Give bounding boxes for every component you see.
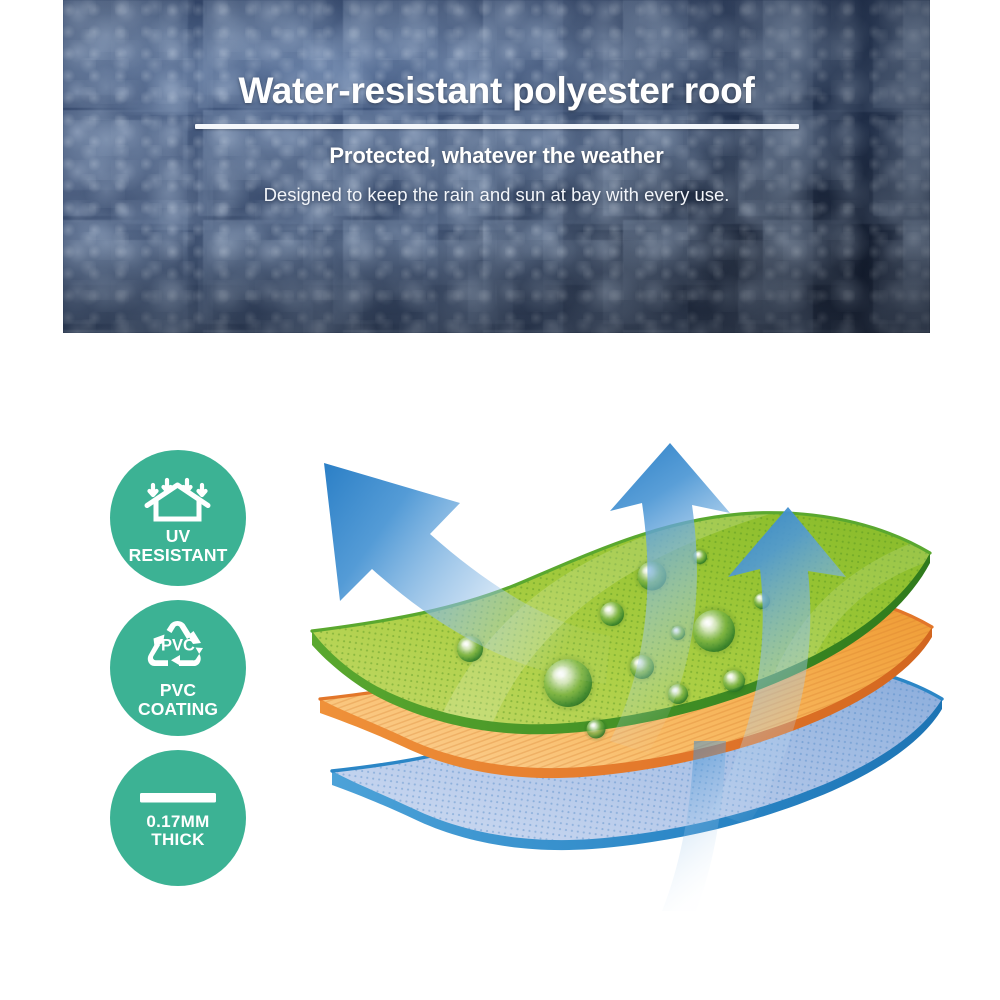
water-droplet <box>596 598 628 630</box>
hero-text-block: Water-resistant polyester roof Protected… <box>63 0 930 333</box>
pvc-recycle-icon: PVC <box>144 618 212 676</box>
hero-description: Designed to keep the rain and sun at bay… <box>264 183 730 208</box>
badge-pvc-coating[interactable]: PVC PVC COATING <box>110 600 246 736</box>
pvc-icon-text: PVC <box>161 637 195 655</box>
water-droplet <box>583 716 609 742</box>
hero-divider <box>195 124 799 129</box>
badge-uv-resistant-label: UV RESISTANT <box>129 527 228 564</box>
badge-uv-resistant[interactable]: UV RESISTANT <box>110 450 246 586</box>
house-uv-rays-icon <box>140 472 216 522</box>
breathable-fabric-layers-diagram <box>310 441 950 911</box>
hero-banner: Water-resistant polyester roof Protected… <box>63 0 930 333</box>
badge-pvc-coating-label: PVC COATING <box>138 681 218 718</box>
water-droplet <box>687 604 741 658</box>
feature-badge-column: UV RESISTANT PVC PVC COATING <box>110 450 250 886</box>
water-droplet <box>719 666 749 696</box>
hero-subtitle: Protected, whatever the weather <box>329 143 663 169</box>
badge-thickness-label: 0.17MM THICK <box>146 813 209 849</box>
thickness-bar-icon <box>139 788 217 808</box>
badge-thickness[interactable]: 0.17MM THICK <box>110 750 246 886</box>
hero-title: Water-resistant polyester roof <box>239 72 755 111</box>
